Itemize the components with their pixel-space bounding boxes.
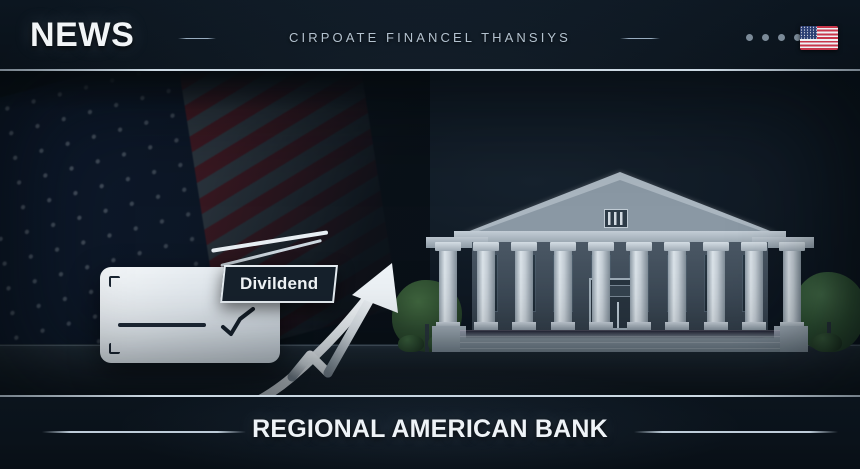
entrance-steps [460, 330, 780, 352]
signature-line [118, 323, 206, 327]
header-subtitle: CIRPOATE FINANCEL THANSIYS [245, 30, 615, 45]
header-divider-right [620, 38, 660, 39]
column-shaft [745, 251, 763, 322]
column [514, 242, 534, 330]
footer-bar: REGIONAL AMERICAN BANK [0, 397, 860, 469]
column [782, 242, 802, 330]
column [629, 242, 649, 330]
brand-title: NEWS [30, 16, 134, 54]
column-shaft [707, 251, 725, 322]
column-shaft [477, 251, 495, 322]
column-base [589, 322, 613, 330]
column [706, 242, 726, 330]
dividend-tag: Divildend [220, 265, 338, 303]
column-capital [741, 242, 767, 251]
column-shaft [668, 251, 686, 322]
corner-mark-bottom-left [109, 343, 120, 354]
dot-1 [746, 34, 753, 41]
bank-name-title: REGIONAL AMERICAN BANK [0, 415, 860, 444]
trend-squiggle-icon [220, 307, 266, 342]
news-graphic-screen: NEWS CIRPOATE FINANCEL THANSIYS [0, 0, 860, 469]
column-base [551, 322, 575, 330]
column-capital [550, 242, 576, 251]
column-capital [511, 242, 537, 251]
column-shaft [592, 251, 610, 322]
column-shaft [630, 251, 648, 322]
column-base [512, 322, 536, 330]
column-capital [664, 242, 690, 251]
column-base [627, 322, 651, 330]
footer-line-right [634, 431, 838, 433]
column-shaft [515, 251, 533, 322]
column-base [742, 322, 766, 330]
flag-canton [800, 26, 817, 39]
column-shaft [554, 251, 572, 322]
column-capital [435, 242, 461, 251]
hero-image: Divildend [0, 71, 860, 396]
column-capital [473, 242, 499, 251]
column-capital [703, 242, 729, 251]
tympanum-window [604, 209, 628, 228]
column-shaft [783, 251, 801, 322]
squiggle-svg [220, 307, 266, 337]
header-bar: NEWS CIRPOATE FINANCEL THANSIYS [0, 0, 860, 70]
header-divider-left [178, 38, 216, 39]
dividend-tag-label: Divildend [240, 274, 318, 294]
dot-2 [762, 34, 769, 41]
column-base [704, 322, 728, 330]
header-dots [746, 34, 801, 41]
column [591, 242, 611, 330]
column [438, 242, 458, 330]
column [553, 242, 573, 330]
dot-3 [778, 34, 785, 41]
neoclassical-bank-building [418, 124, 822, 352]
us-flag-icon [800, 26, 838, 50]
backdrop-top-shading [0, 71, 430, 111]
column-shaft [439, 251, 457, 322]
column-base [474, 322, 498, 330]
column-capital [779, 242, 805, 251]
column-capital [626, 242, 652, 251]
column-base [665, 322, 689, 330]
column [667, 242, 687, 330]
column-capital [588, 242, 614, 251]
column-row [438, 242, 802, 330]
column [476, 242, 496, 330]
column [744, 242, 764, 330]
corner-mark-top-left [109, 276, 120, 287]
